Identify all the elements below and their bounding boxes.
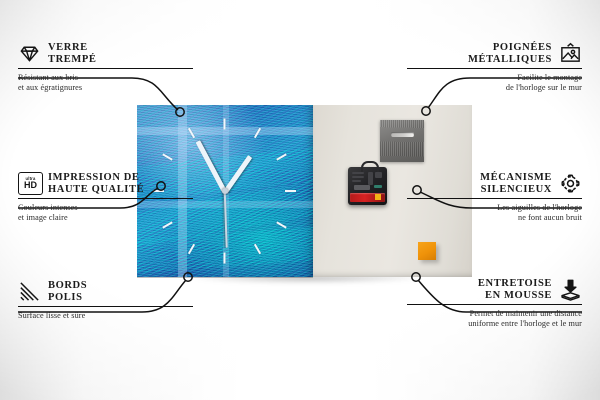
callout-title: BORDS POLIS: [48, 280, 87, 303]
movement-vent: [352, 180, 361, 182]
battery: [350, 193, 385, 202]
movement-marking: [374, 185, 382, 188]
callout-title: MÉCANISME SILENCIEUX: [480, 172, 552, 195]
polished-edge-icon: [18, 280, 41, 303]
movement-vent: [375, 172, 382, 178]
callout-poignees-metalliques[interactable]: POIGNÉES MÉTALLIQUES Facilite le montage…: [407, 42, 582, 93]
callout-header: VERRE TREMPÉ: [18, 42, 193, 65]
infographic-canvas: VERRE TREMPÉ Résistant aux bris et aux é…: [0, 0, 600, 400]
callout-description: Facilite le montage de l'horloge sur le …: [407, 73, 582, 93]
press-down-pad-icon: [559, 278, 582, 301]
clock-tick: [224, 253, 226, 264]
callout-title: POIGNÉES MÉTALLIQUES: [468, 42, 552, 65]
clock-tick: [285, 190, 296, 192]
callout-description: Résistant aux bris et aux égratignures: [18, 73, 193, 93]
hanger-keyhole-slot: [391, 132, 414, 137]
callout-header: MÉCANISME SILENCIEUX: [407, 172, 582, 195]
callout-rule: [18, 68, 193, 69]
callout-entretoise-en-mousse[interactable]: ENTRETOISE EN MOUSSE Permet de maintenir…: [407, 278, 582, 329]
picture-hanger-icon: [559, 42, 582, 65]
callout-description: Permet de maintenir une distance uniform…: [407, 309, 582, 329]
movement-vent: [352, 176, 364, 178]
callout-header: ultra HD IMPRESSION DE HAUTE QUALITÉ: [18, 172, 193, 195]
callout-header: BORDS POLIS: [18, 280, 193, 303]
battery-positive-terminal: [375, 194, 381, 200]
gear-icon: [559, 172, 582, 195]
callout-title: IMPRESSION DE HAUTE QUALITÉ: [48, 172, 144, 195]
movement-vent: [352, 172, 364, 174]
movement-hanging-loop: [361, 161, 379, 172]
callout-rule: [407, 198, 582, 199]
callout-description: Surface lisse et sûre: [18, 311, 193, 321]
movement-vent: [368, 172, 373, 185]
metal-hanger-plate: [380, 120, 424, 162]
clock-center-cap: [222, 188, 228, 194]
callout-bords-polis[interactable]: BORDS POLIS Surface lisse et sûre: [18, 280, 193, 321]
clock-tick: [276, 221, 287, 228]
callout-rule: [407, 68, 582, 69]
callout-description: Les aiguilles de l'horloge ne font aucun…: [407, 203, 582, 223]
callout-header: ENTRETOISE EN MOUSSE: [407, 278, 582, 301]
diamond-icon: [18, 42, 41, 65]
clock-tick: [162, 153, 173, 160]
callout-rule: [18, 306, 193, 307]
quartz-movement: [348, 167, 387, 205]
ultra-hd-badge-icon: ultra HD: [18, 172, 41, 195]
clock-tick: [224, 119, 226, 130]
callout-impression-haute-qualite[interactable]: ultra HD IMPRESSION DE HAUTE QUALITÉ Cou…: [18, 172, 193, 223]
callout-title: VERRE TREMPÉ: [48, 42, 97, 65]
callout-rule: [18, 198, 193, 199]
callout-description: Couleurs intenses et image claire: [18, 203, 193, 223]
foam-spacer: [418, 242, 436, 260]
callout-header: POIGNÉES MÉTALLIQUES: [407, 42, 582, 65]
callout-mecanisme-silencieux[interactable]: MÉCANISME SILENCIEUX Les aiguilles de l'…: [407, 172, 582, 223]
callout-title: ENTRETOISE EN MOUSSE: [478, 278, 552, 301]
callout-verre-trempe[interactable]: VERRE TREMPÉ Résistant aux bris et aux é…: [18, 42, 193, 93]
movement-label: [354, 185, 370, 190]
callout-rule: [407, 304, 582, 305]
